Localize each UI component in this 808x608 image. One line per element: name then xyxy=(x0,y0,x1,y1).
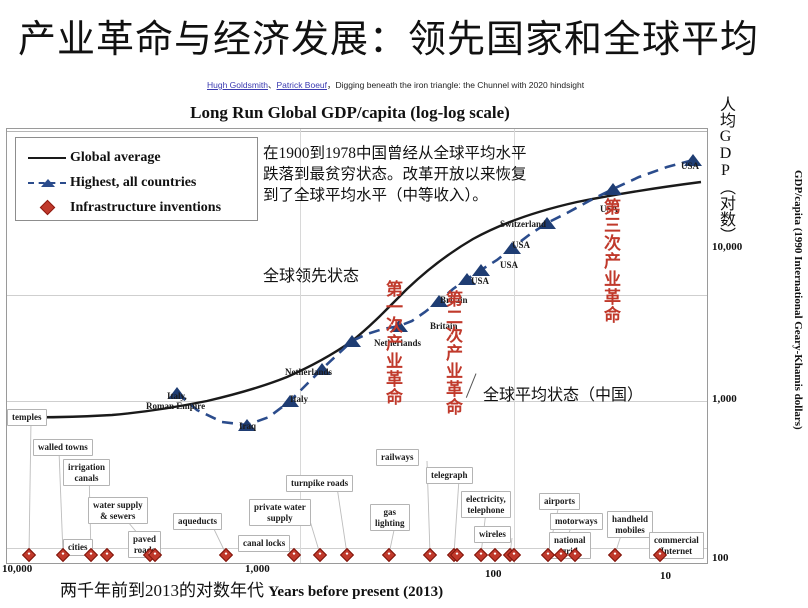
legend-label-global-average: Global average xyxy=(70,150,161,166)
invention-callout: gaslighting xyxy=(370,504,410,531)
x-axis-caption-en: Years before present (2013) xyxy=(268,584,443,600)
xtick-10: 10 xyxy=(660,570,671,582)
legend-label-highest-countries: Highest, all countries xyxy=(70,175,196,191)
ytick-1000: 1,000 xyxy=(712,393,737,405)
citation-line: Hugh Goldsmith、Patrick Boeuf，Digging ben… xyxy=(207,80,657,91)
first-industrial-revolution-label: 第一次产业革命 xyxy=(383,280,402,406)
solid-line-key-icon xyxy=(24,157,70,159)
invention-callout: railways xyxy=(376,449,419,466)
slide-root: 产业革命与经济发展：领先国家和全球平均 Hugh Goldsmith、Patri… xyxy=(0,0,808,608)
xtick-1000: 1,000 xyxy=(245,563,270,575)
y-axis-caption-cn: 人均GDP（对数） xyxy=(716,96,734,243)
country-label: USA xyxy=(500,260,518,270)
average-state-label: 全球平均状态（中国） xyxy=(483,381,643,405)
invention-callout: motorways xyxy=(550,513,603,530)
china-annotation-note: 在1900到1978中国曾经从全球平均水平跌落到最贫穷状态。改革开放以来恢复到了… xyxy=(263,143,538,206)
chart-legend: Global average Highest, all countries In… xyxy=(15,137,258,221)
leading-state-label: 全球领先状态 xyxy=(263,262,359,286)
country-label: Iraq xyxy=(239,421,256,431)
invention-callout: airports xyxy=(539,493,580,510)
country-label: Italy, xyxy=(167,391,187,401)
second-industrial-revolution-label: 第二次产业革命 xyxy=(443,290,462,416)
x-axis-caption-cn: 两千年前到2013的对数年代 xyxy=(60,581,264,600)
invention-callout: water supply& sewers xyxy=(88,497,148,524)
invention-callout: electricity,telephone xyxy=(461,491,511,518)
invention-callout: private watersupply xyxy=(249,499,311,526)
citation-author-1[interactable]: Hugh Goldsmith xyxy=(207,80,268,90)
invention-callout: irrigationcanals xyxy=(63,459,110,486)
invention-callout: telegraph xyxy=(426,467,473,484)
legend-item-infrastructure[interactable]: Infrastructure inventions xyxy=(24,195,257,220)
invention-callout: wireles xyxy=(474,526,511,543)
red-diamond-key-icon xyxy=(24,202,70,213)
country-label: Roman Empire xyxy=(146,401,205,411)
invention-callout: aqueducts xyxy=(173,513,222,530)
legend-label-infrastructure: Infrastructure inventions xyxy=(70,200,221,216)
xtick-10000: 10,000 xyxy=(2,563,32,575)
country-label: USA xyxy=(512,240,530,250)
x-axis-caption: 两千年前到2013的对数年代 Years before present (201… xyxy=(60,576,443,601)
y-axis-caption-en: GDP/capita (1990 International Geary-Kha… xyxy=(792,170,804,430)
invention-callout: temples xyxy=(7,409,47,426)
country-label: Italy xyxy=(290,394,308,404)
invention-callout: handheldmobiles xyxy=(607,511,653,538)
country-label: USA xyxy=(471,276,489,286)
dashed-triangle-key-icon xyxy=(24,182,70,184)
country-label: USA xyxy=(681,161,699,171)
country-label: Switzerland xyxy=(500,219,546,229)
citation-author-2[interactable]: Patrick Boeuf xyxy=(276,80,327,90)
country-label: Netherlands xyxy=(285,367,332,377)
invention-callout: canal locks xyxy=(238,535,290,552)
legend-item-highest-countries[interactable]: Highest, all countries xyxy=(24,170,257,195)
third-industrial-revolution-label: 第三次产业革命 xyxy=(601,198,620,324)
xtick-100: 100 xyxy=(485,568,502,580)
invention-callout: walled towns xyxy=(33,439,93,456)
page-title: 产业革命与经济发展：领先国家和全球平均 xyxy=(18,18,793,62)
legend-item-global-average[interactable]: Global average xyxy=(24,145,257,170)
ytick-100: 100 xyxy=(712,552,729,564)
chart-title: Long Run Global GDP/capita (log-log scal… xyxy=(0,103,700,123)
invention-callout: turnpike roads xyxy=(286,475,353,492)
citation-reference: ，Digging beneath the iron triangle: the … xyxy=(327,80,584,90)
